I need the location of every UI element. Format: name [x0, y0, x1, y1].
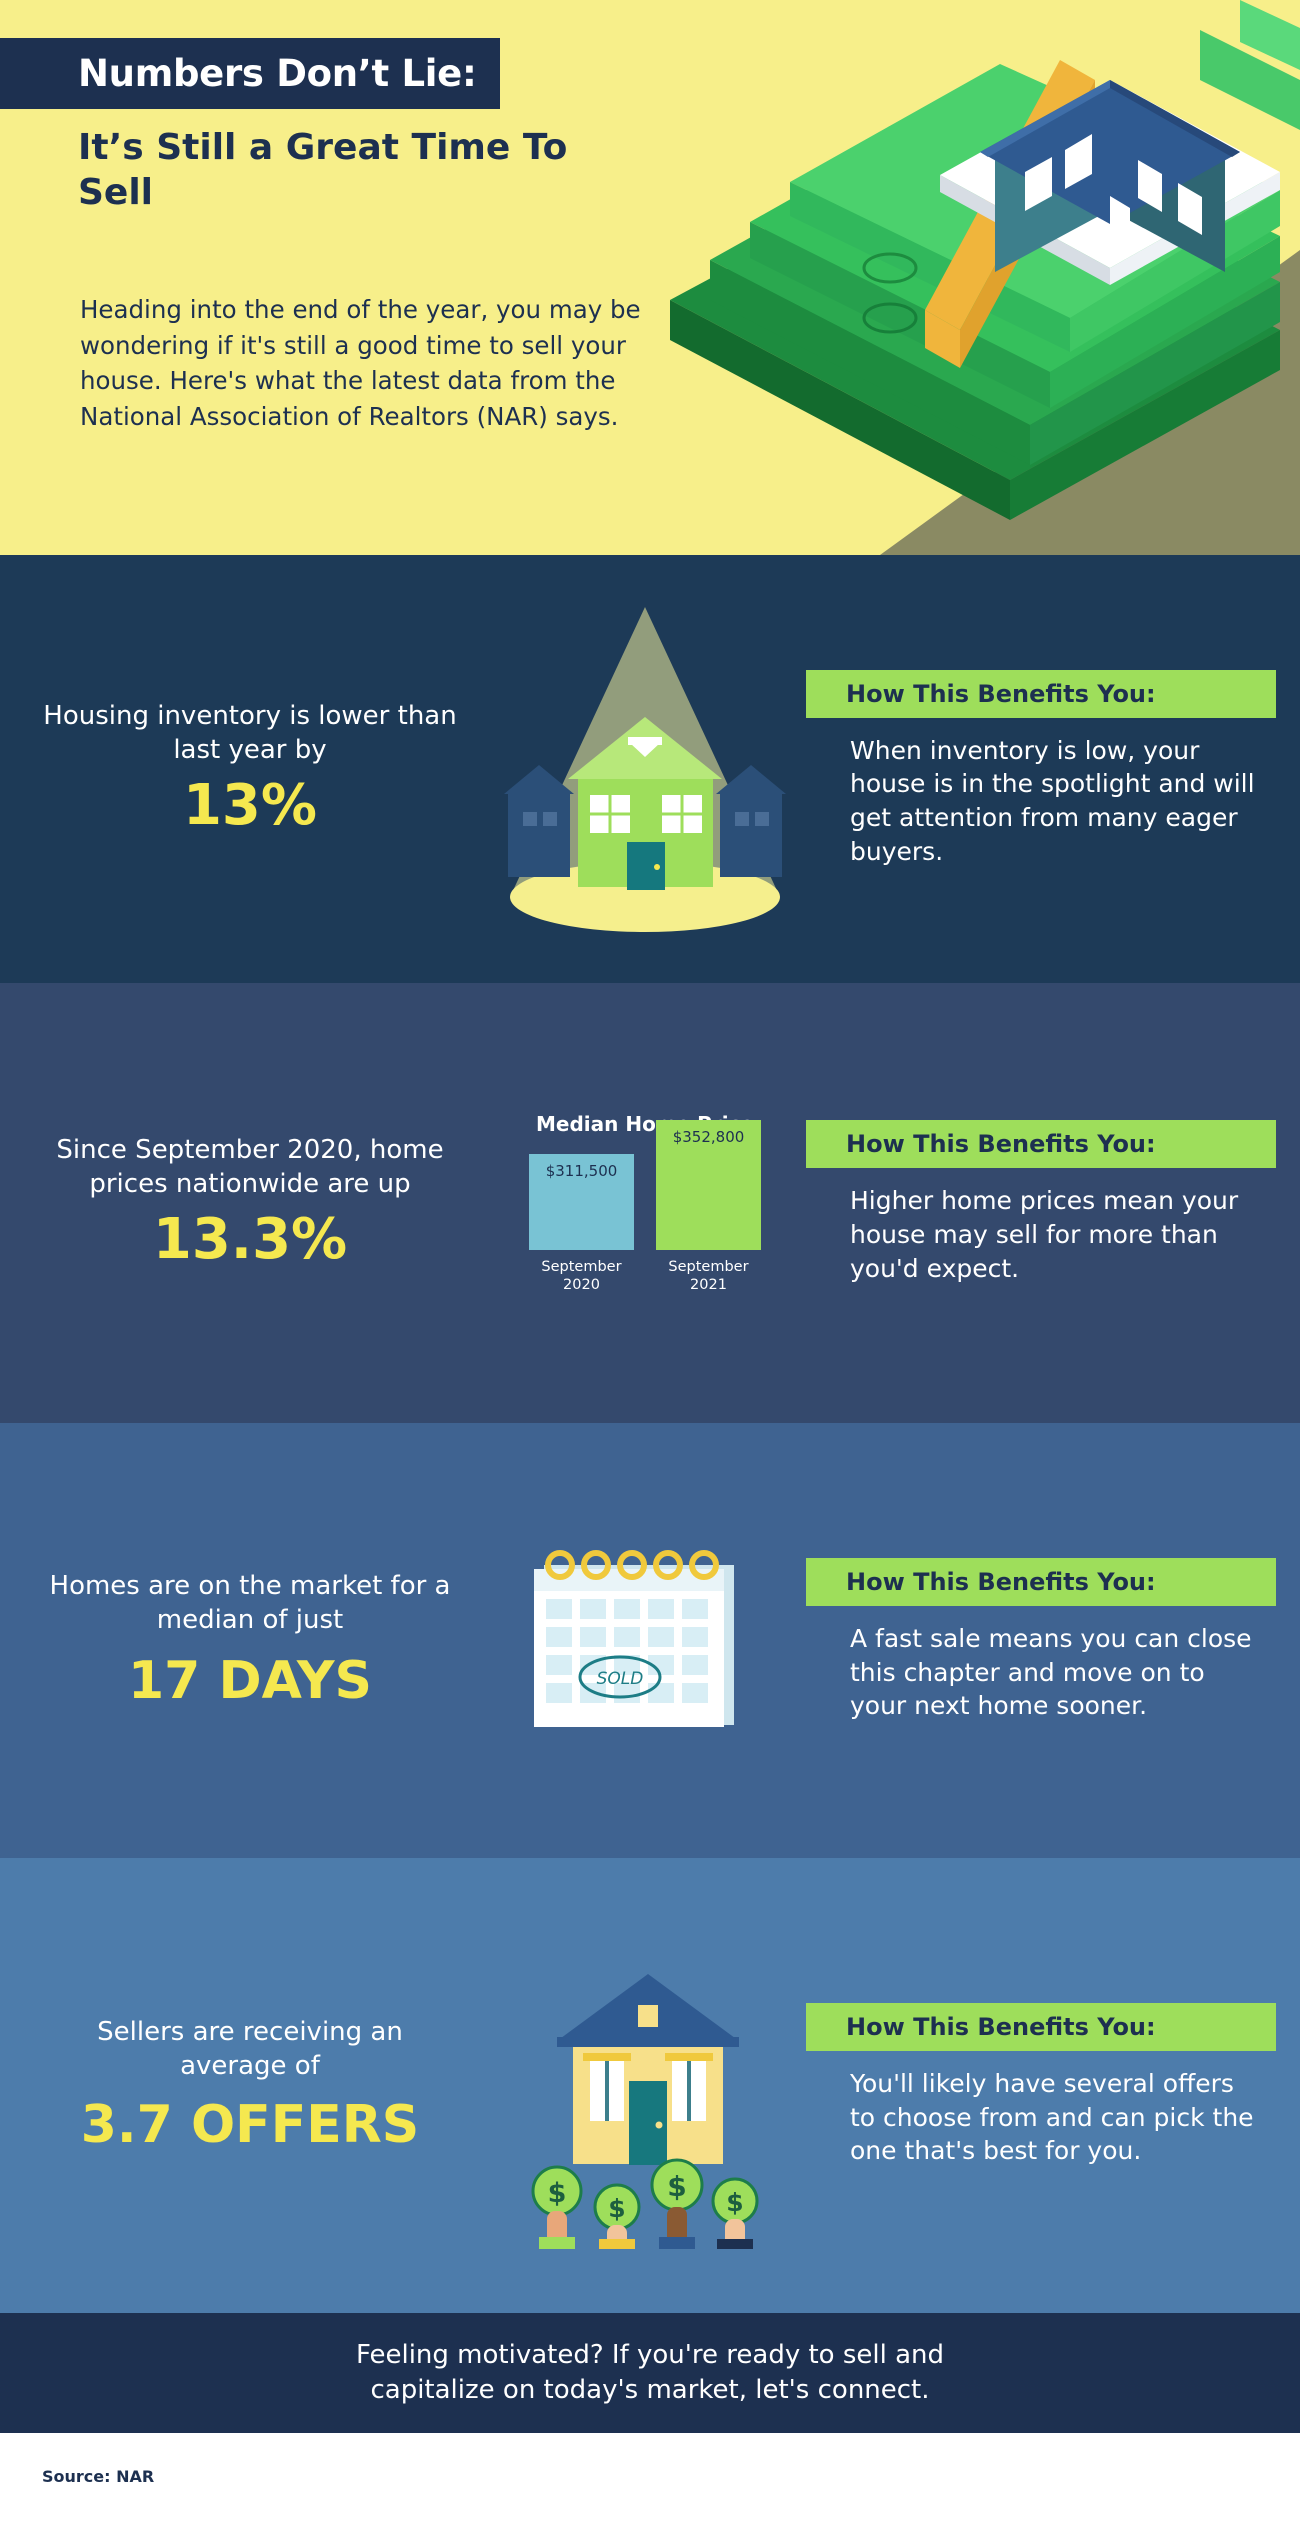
house-spotlight-icon	[490, 597, 800, 941]
section-inventory-right: How This Benefits You: When inventory is…	[810, 670, 1300, 869]
section-prices: Since September 2020, home prices nation…	[0, 983, 1300, 1423]
benefit-heading: How This Benefits You:	[806, 1558, 1276, 1606]
main-title-text: Numbers Don’t Lie:	[78, 52, 476, 95]
sub-title: It’s Still a Great Time To Sell	[78, 125, 598, 215]
footer-line-1: Feeling motivated? If you're ready to se…	[356, 2338, 944, 2373]
section-inventory-stat: 13%	[20, 773, 480, 838]
chart-bar-value-1: $352,800	[673, 1120, 745, 1146]
source-note: Source: NAR	[0, 2433, 1300, 2486]
main-title: Numbers Don’t Lie:	[0, 38, 500, 109]
chart-bar-value-0: $311,500	[546, 1154, 618, 1180]
section-days-right: How This Benefits You: A fast sale means…	[810, 1558, 1300, 1723]
footer-line-2: capitalize on today's market, let's conn…	[370, 2373, 929, 2408]
section-days-icon-wrap: SOLD	[480, 1539, 810, 1743]
chart-bars: $311,500 September 2020 $352,800 Septemb…	[495, 1154, 795, 1294]
infographic-page: Numbers Don’t Lie: It’s Still a Great Ti…	[0, 0, 1300, 2536]
chart-bar-label-1: September 2021	[656, 1258, 761, 1294]
svg-text:$: $	[726, 2188, 743, 2217]
house-offers-icon: $ $ $ $	[495, 1919, 795, 2253]
calendar-sold-stamp-text: SOLD	[597, 1669, 644, 1689]
section-offers-left: Sellers are receiving an average of 3.7 …	[0, 2016, 480, 2156]
section-offers-icon-wrap: $ $ $ $	[480, 1919, 810, 2253]
section-prices-chart-wrap: Median Home Price $311,500 September 202…	[480, 1112, 810, 1294]
section-days-left: Homes are on the market for a median of …	[0, 1570, 480, 1712]
section-offers-right: How This Benefits You: You'll likely hav…	[810, 2003, 1300, 2168]
section-inventory-left: Housing inventory is lower than last yea…	[0, 700, 480, 839]
chart-bar-group-0: $311,500 September 2020	[529, 1154, 634, 1294]
chart-bar-label-0-line2: 2020	[563, 1277, 600, 1293]
svg-text:$: $	[608, 2194, 625, 2223]
benefit-text: A fast sale means you can close this cha…	[810, 1606, 1276, 1723]
chart-bar-label-1-line2: 2021	[690, 1277, 727, 1293]
section-offers-lead: Sellers are receiving an average of	[50, 2016, 450, 2084]
section-days-lead: Homes are on the market for a median of …	[35, 1570, 465, 1638]
footer-cta: Feeling motivated? If you're ready to se…	[0, 2313, 1300, 2433]
section-prices-right: How This Benefits You: Higher home price…	[810, 1120, 1300, 1285]
section-offers: Sellers are receiving an average of 3.7 …	[0, 1858, 1300, 2313]
benefit-text: When inventory is low, your house is in …	[810, 718, 1276, 869]
house-on-money-illustration	[640, 0, 1300, 555]
calendar-sold-icon: SOLD	[520, 1539, 770, 1743]
section-prices-left: Since September 2020, home prices nation…	[0, 1134, 480, 1273]
section-days-stat: 17 DAYS	[20, 1651, 480, 1711]
section-days-on-market: Homes are on the market for a median of …	[0, 1423, 1300, 1858]
chart-bar-label-1-line1: September	[668, 1259, 748, 1275]
benefit-text: You'll likely have several offers to cho…	[810, 2051, 1276, 2168]
header-section: Numbers Don’t Lie: It’s Still a Great Ti…	[0, 0, 1300, 555]
svg-text:$: $	[548, 2178, 567, 2209]
median-home-price-chart: Median Home Price $311,500 September 202…	[495, 1112, 795, 1294]
intro-paragraph: Heading into the end of the year, you ma…	[80, 292, 698, 434]
benefit-heading: How This Benefits You:	[806, 670, 1276, 718]
section-offers-stat: 3.7 OFFERS	[20, 2095, 480, 2155]
chart-bar-label-0-line1: September	[541, 1259, 621, 1275]
benefit-heading: How This Benefits You:	[806, 1120, 1276, 1168]
svg-text:$: $	[667, 2170, 686, 2203]
chart-bar-label-0: September 2020	[529, 1258, 634, 1294]
section-inventory-lead: Housing inventory is lower than last yea…	[40, 700, 460, 768]
section-inventory-icon-wrap	[480, 597, 810, 941]
chart-bar-group-1: $352,800 September 2021	[656, 1120, 761, 1294]
section-prices-stat: 13.3%	[20, 1207, 480, 1272]
chart-bar-1: $352,800	[656, 1120, 761, 1250]
benefit-text: Higher home prices mean your house may s…	[810, 1168, 1276, 1285]
chart-bar-0: $311,500	[529, 1154, 634, 1250]
section-prices-lead: Since September 2020, home prices nation…	[40, 1134, 460, 1202]
benefit-heading: How This Benefits You:	[806, 2003, 1276, 2051]
section-inventory: Housing inventory is lower than last yea…	[0, 555, 1300, 983]
